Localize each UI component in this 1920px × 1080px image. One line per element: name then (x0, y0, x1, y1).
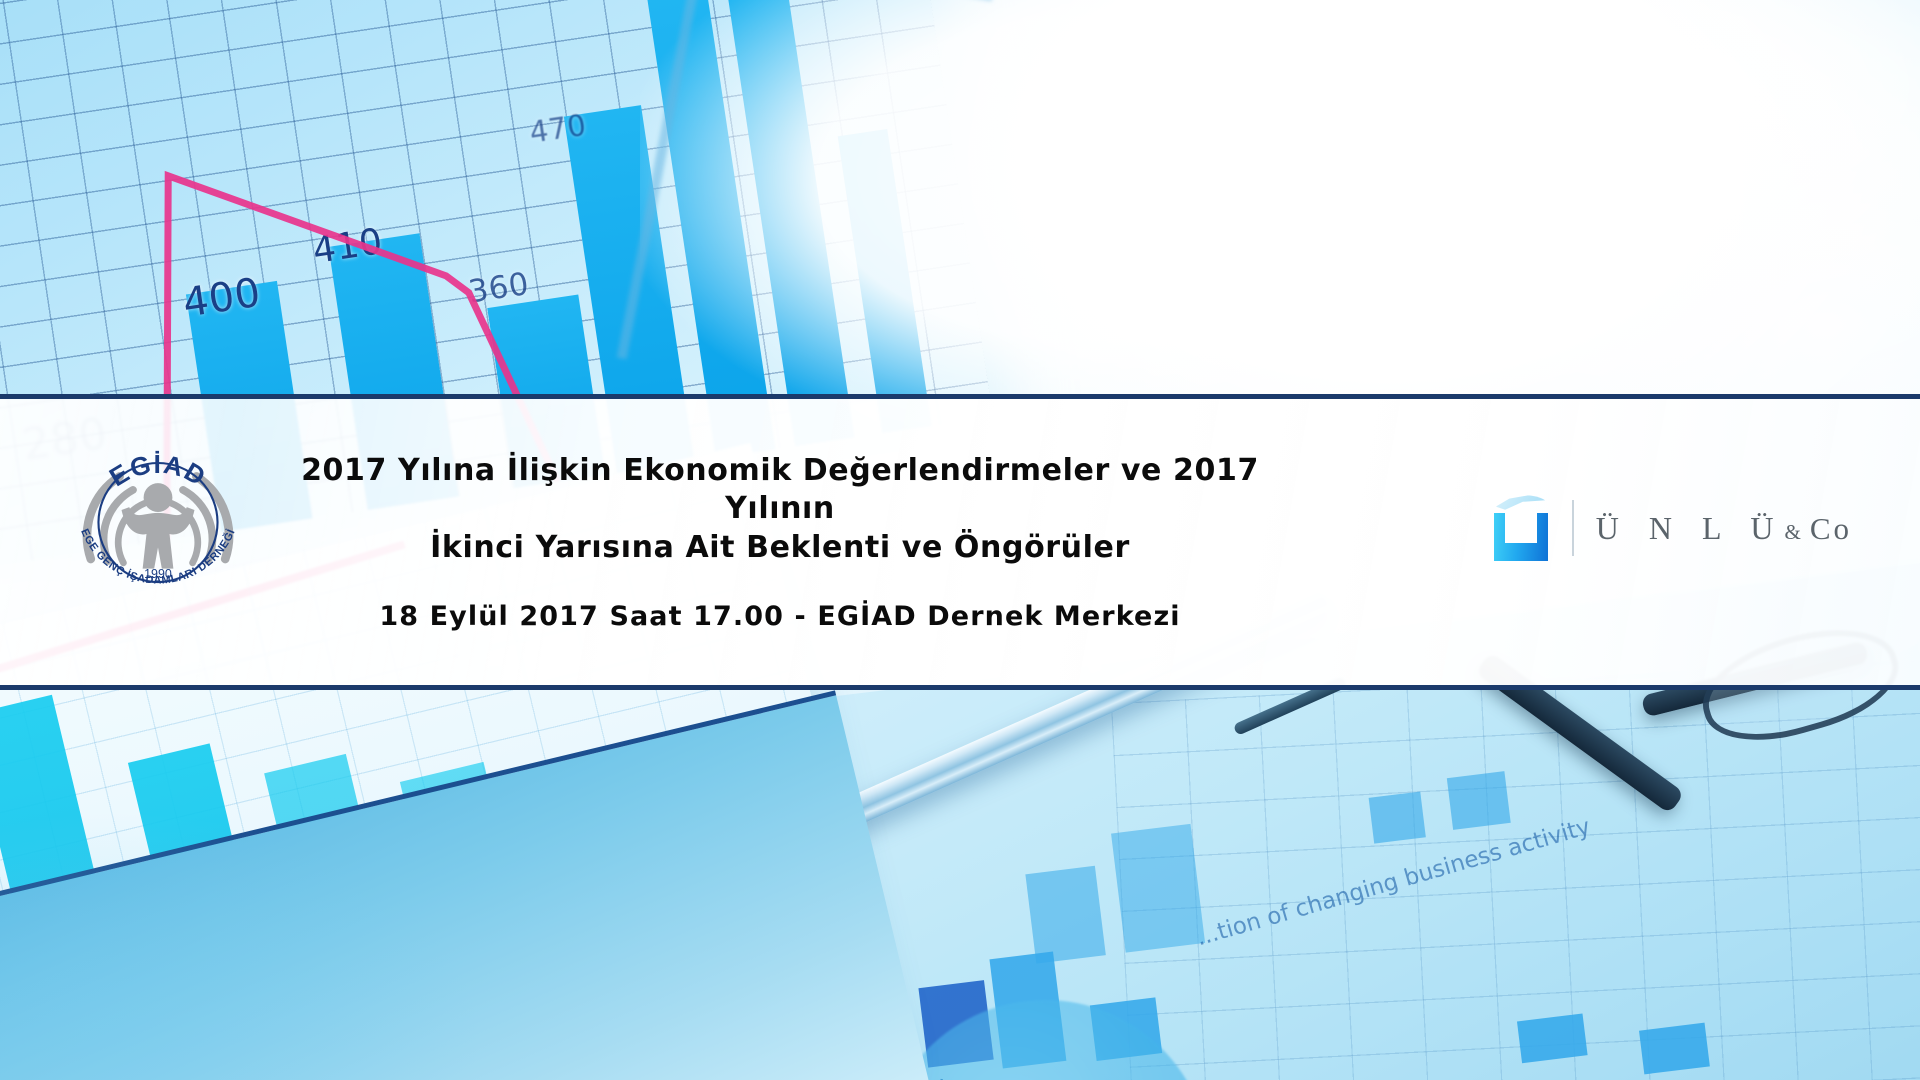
event-details: 18 Eylül 2017 Saat 17.00 - EGİAD Dernek … (379, 601, 1180, 632)
unlu-u-mark-icon (1492, 495, 1550, 561)
unlu-ampersand: & (1784, 520, 1809, 544)
egiad-logo[interactable]: EGİAD 1990 EGE GENÇ İŞADAMLARI DERNEĞİ (62, 415, 254, 607)
report-bar (1369, 792, 1426, 844)
unlu-wordmark: Ü N L Ü&Co (1596, 510, 1852, 547)
report-bar (1639, 1023, 1710, 1075)
event-banner: EGİAD 1990 EGE GENÇ İŞADAMLARI DERNEĞİ 2… (0, 394, 1920, 690)
report-bar (1447, 771, 1511, 830)
egiad-logo-graphic: EGİAD 1990 EGE GENÇ İŞADAMLARI DERNEĞİ (62, 415, 254, 607)
report-bar (1517, 1013, 1588, 1063)
report-bar (1025, 866, 1105, 964)
report-bar (1111, 824, 1205, 953)
egiad-figure-icon (122, 483, 195, 568)
event-title-line-1: 2017 Yılına İlişkin Ekonomik Değerlendir… (250, 452, 1310, 529)
unlu-co-logo[interactable]: Ü N L Ü&Co (1492, 495, 1852, 561)
unlu-logo-divider (1572, 500, 1574, 556)
unlu-suffix: Co (1810, 511, 1852, 546)
poster-canvas: 400 410 360 470 280 Subdivision 1 ...tio… (0, 0, 1920, 1080)
event-title: 2017 Yılına İlişkin Ekonomik Değerlendir… (250, 452, 1310, 567)
event-text-block: 2017 Yılına İlişkin Ekonomik Değerlendir… (250, 399, 1310, 685)
unlu-swoosh-icon (1496, 495, 1548, 515)
unlu-u-glyph (1494, 513, 1548, 561)
event-title-line-2: İkinci Yarısına Ait Beklenti ve Öngörüle… (250, 529, 1310, 567)
unlu-wordmark-text: Ü N L Ü (1596, 510, 1785, 546)
